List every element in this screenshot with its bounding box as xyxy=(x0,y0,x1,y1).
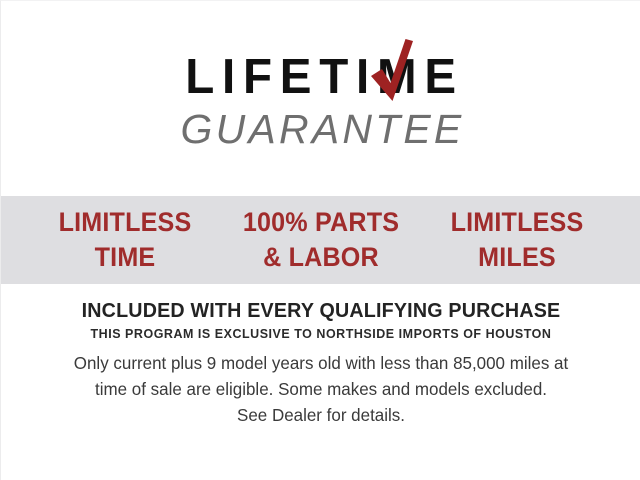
fineprint-block: Only current plus 9 model years old with… xyxy=(11,350,632,428)
claim-line-2: MILES xyxy=(426,240,608,275)
claims-band: LIMITLESS TIME 100% PARTS & LABOR LIMITL… xyxy=(1,196,640,284)
subheadline: THIS PROGRAM IS EXCLUSIVE TO NORTHSIDE I… xyxy=(14,326,628,341)
logo-lockup: LIFETIME GUARANTEE xyxy=(173,53,468,150)
logo-guarantee-text: GUARANTEE xyxy=(173,109,468,150)
claim-parts-and-labor: 100% PARTS & LABOR xyxy=(230,205,412,275)
fineprint-line-2: time of sale are eligible. Some makes an… xyxy=(11,376,632,402)
fineprint-line-1: Only current plus 9 model years old with… xyxy=(11,350,632,376)
claim-line-2: & LABOR xyxy=(230,240,412,275)
fineprint-line-3: See Dealer for details. xyxy=(11,402,632,428)
claim-limitless-time: LIMITLESS TIME xyxy=(34,205,216,275)
claim-line-2: TIME xyxy=(34,240,216,275)
lifetime-guarantee-advertisement: LIFETIME GUARANTEE LIMITLESS TIME 100% P… xyxy=(0,0,640,480)
logo-block: LIFETIME GUARANTEE xyxy=(1,53,640,150)
claim-limitless-miles: LIMITLESS MILES xyxy=(426,205,608,275)
headline: INCLUDED WITH EVERY QUALIFYING PURCHASE xyxy=(14,299,628,323)
claim-line-1: LIMITLESS xyxy=(426,205,608,240)
claim-line-1: 100% PARTS xyxy=(230,205,412,240)
claim-line-1: LIMITLESS xyxy=(34,205,216,240)
logo-lifetime-text: LIFETIME xyxy=(178,53,464,102)
